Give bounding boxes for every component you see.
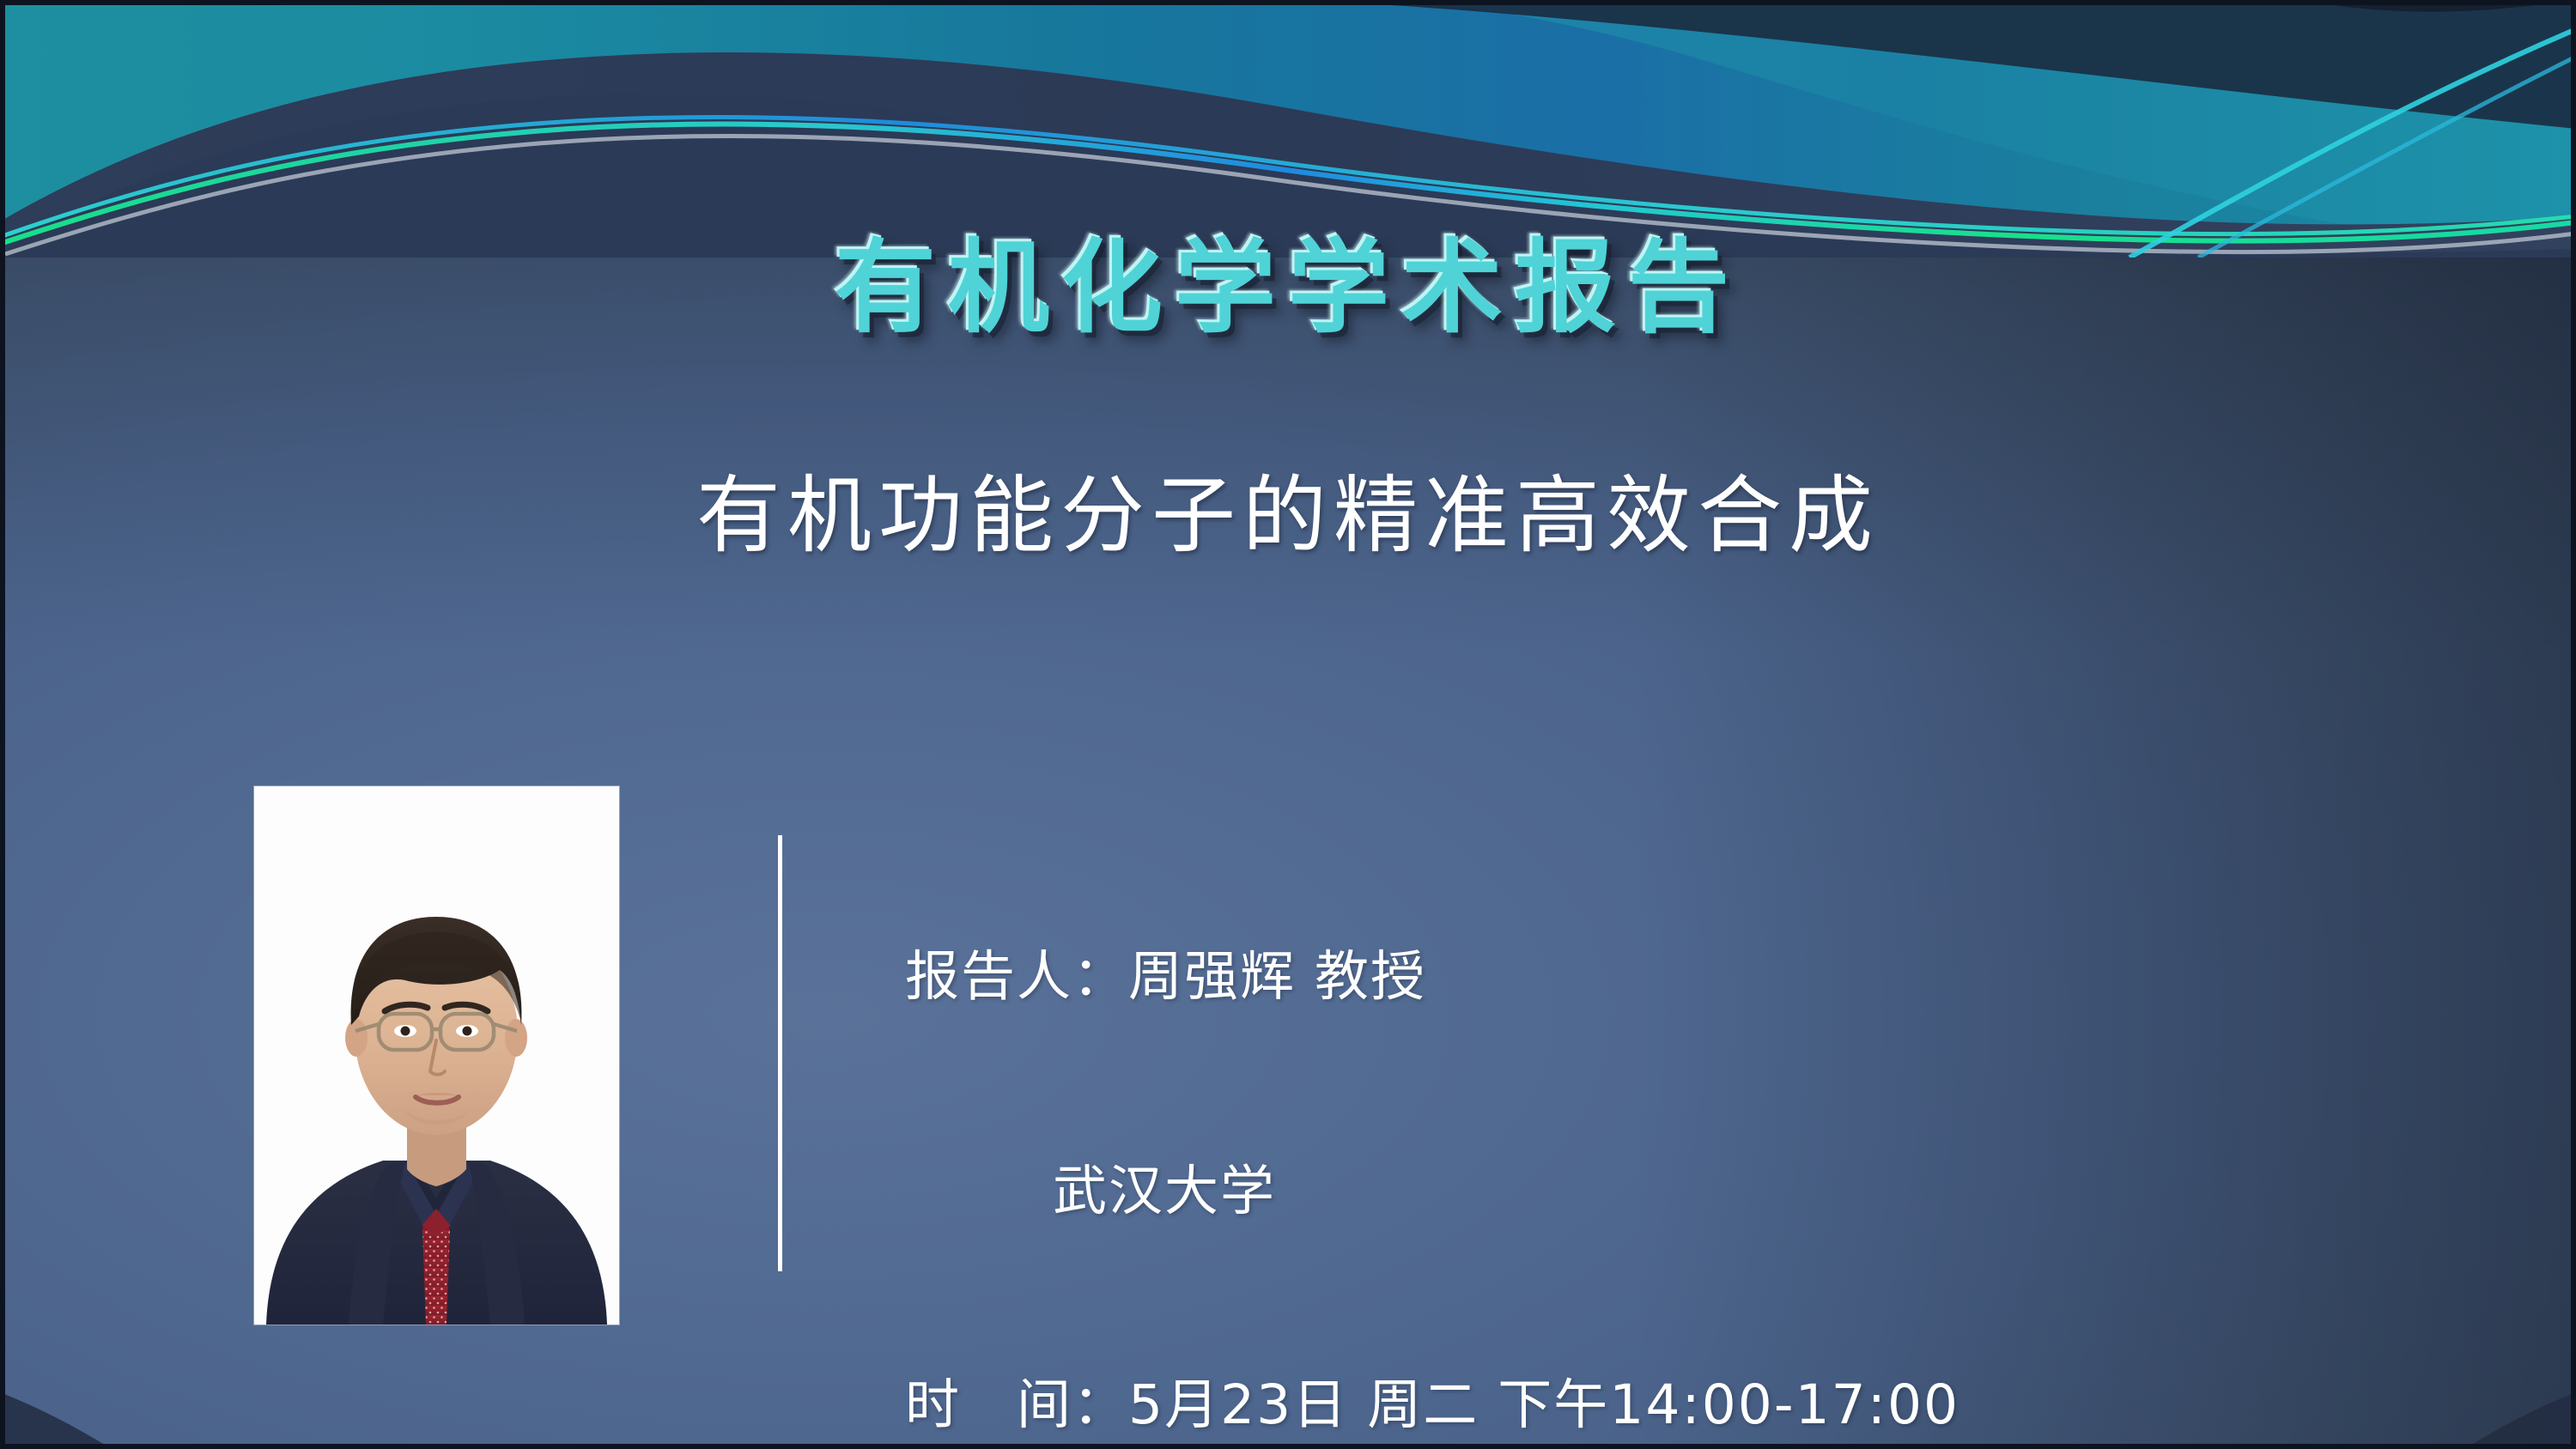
header-wave-decoration bbox=[0, 0, 2576, 258]
page-title-decorative: 有机化学学术报告 bbox=[0, 237, 2576, 338]
detail-line-speaker: 报告人：周强辉 教授 bbox=[905, 941, 2451, 1012]
speaker-portrait-photo bbox=[254, 786, 619, 1325]
detail-line-time: 时 间：5月23日 周二 下午14:00-17:00 bbox=[905, 1369, 2451, 1440]
lecture-topic-title: 有机功能分子的精准高效合成 bbox=[0, 468, 2576, 565]
event-details-block: 报告人：周强辉 教授 武汉大学 时 间：5月23日 周二 下午14:00-17:… bbox=[905, 798, 2451, 1449]
detail-line-affiliation: 武汉大学 bbox=[905, 1155, 2451, 1227]
presentation-slide: 有机化学学术报告 有机功能分子的精准高效合成 bbox=[0, 0, 2576, 1449]
vertical-divider-line bbox=[778, 835, 782, 1271]
portrait-illustration bbox=[254, 786, 619, 1325]
